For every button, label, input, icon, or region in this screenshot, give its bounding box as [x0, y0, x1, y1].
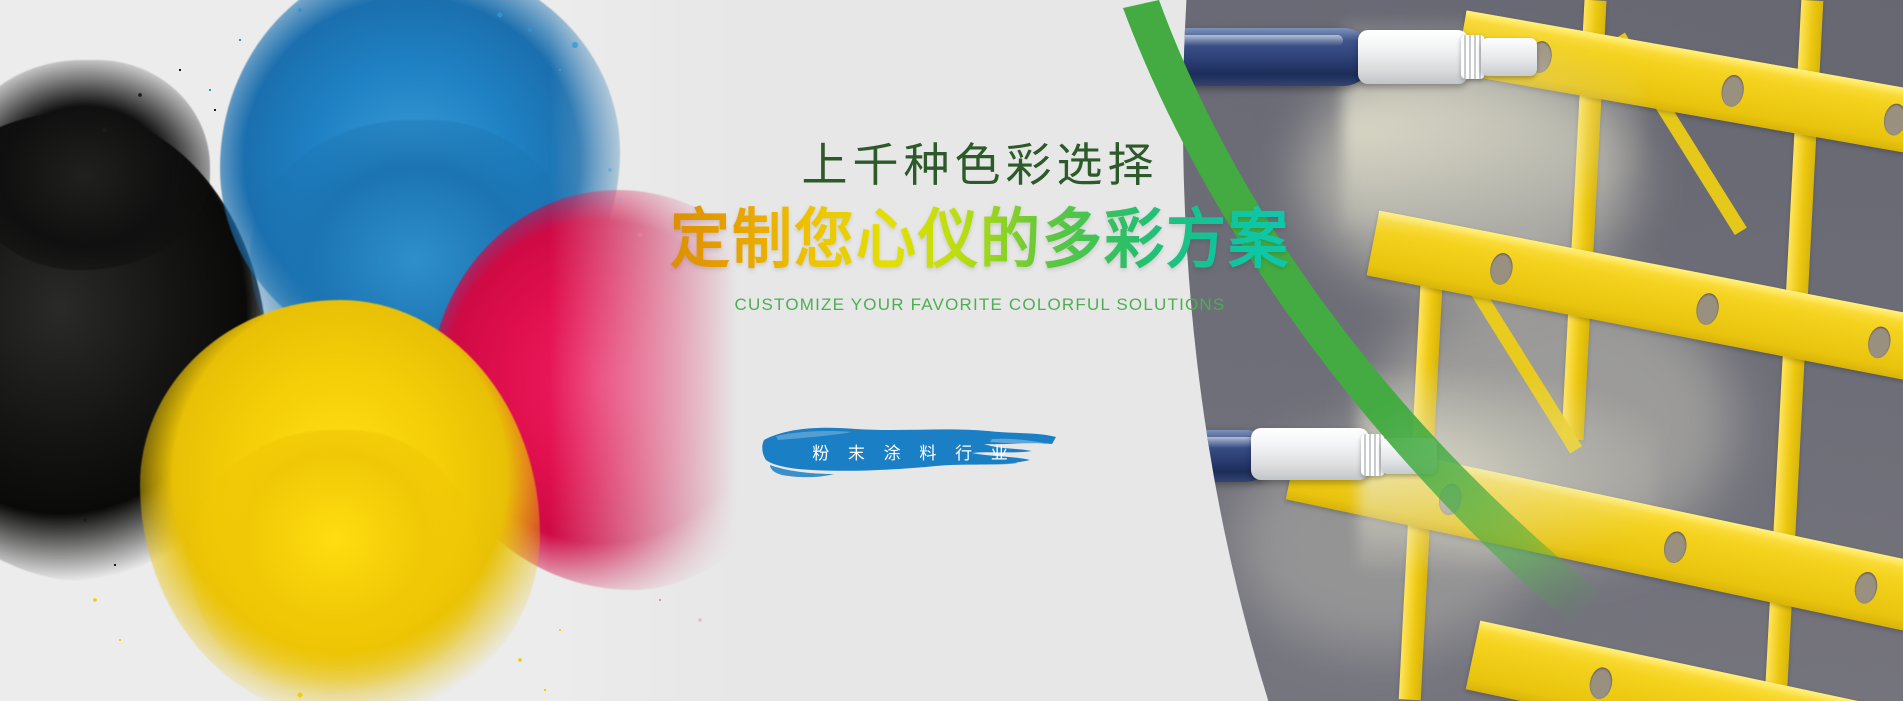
- powder-pigment-photo: [0, 0, 790, 701]
- industry-badge: 粉 末 涂 料 行 业: [760, 418, 1060, 488]
- gun-body-top: Encore: [1143, 28, 1373, 86]
- gun-nozzle-bottom: [1381, 438, 1437, 474]
- banner-copy: 上千种色彩选择 定制您心仪的多彩方案 CUSTOMIZE YOUR FAVORI…: [660, 140, 1300, 315]
- gun-collar-top: [1358, 30, 1468, 84]
- headline-secondary: 定制您心仪的多彩方案: [660, 204, 1300, 275]
- yellow-powder-pile-core: [190, 430, 480, 700]
- gun-collar-bottom: [1251, 428, 1369, 480]
- promo-banner: Encore: [0, 0, 1903, 701]
- spray-booth-photo: Encore: [1143, 0, 1903, 701]
- headline-primary: 上千种色彩选择: [660, 140, 1300, 193]
- subtitle-english: CUSTOMIZE YOUR FAVORITE COLORFUL SOLUTIO…: [660, 295, 1300, 315]
- gun-nozzle-top: [1481, 38, 1537, 76]
- photo-fade-overlay: [550, 0, 790, 701]
- industry-badge-label: 粉 末 涂 料 行 业: [760, 439, 1060, 464]
